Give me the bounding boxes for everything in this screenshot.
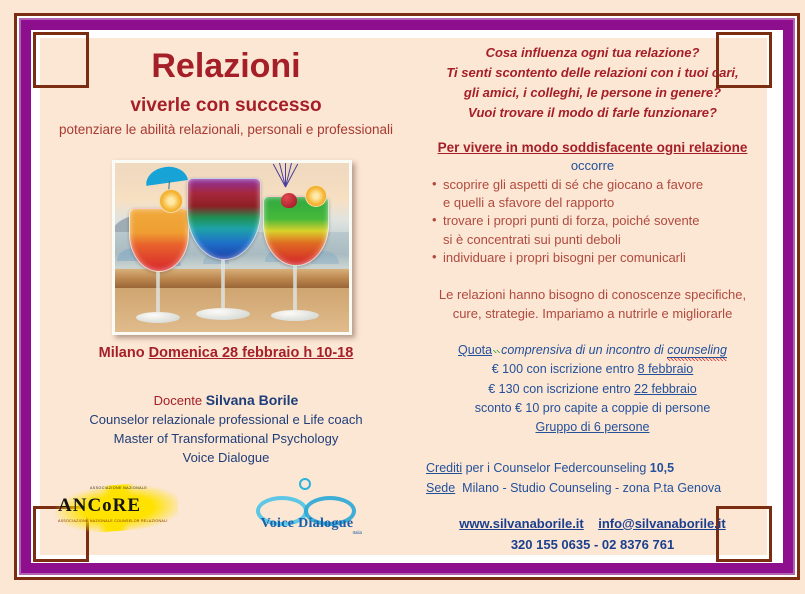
- credits-and-venue-block: Crediti per i Counselor Federcounseling …: [418, 458, 767, 498]
- list-item-line: si è concentrati sui punti deboli: [443, 232, 621, 247]
- poster-columns: Relazioni viverle con successo potenziar…: [40, 38, 767, 555]
- event-city: Milano: [99, 345, 145, 361]
- venue-text: Milano - Studio Counseling - zona P.ta G…: [462, 481, 721, 495]
- price-deadline: 8 febbraio: [638, 362, 694, 376]
- event-date-line: Milano Domenica 28 febbraio h 10-18: [40, 345, 412, 361]
- pricing-heading-rest: comprensiva di un incontro di: [501, 343, 664, 357]
- teacher-credential: Voice Dialogue: [40, 449, 412, 468]
- list-item: trovare i propri punti di forza, poiché …: [432, 212, 767, 249]
- subtitle: viverle con successo: [40, 95, 412, 117]
- teacher-name: Silvana Borile: [206, 392, 299, 408]
- price-line-1: € 100 con iscrizione entro 8 febbraio: [418, 360, 767, 379]
- left-column: Relazioni viverle con successo potenziar…: [40, 38, 412, 555]
- price-deadline: 22 febbraio: [634, 382, 697, 396]
- cocktail-foot: [196, 308, 250, 320]
- hook-questions: Cosa influenza ogni tua relazione? Ti se…: [418, 38, 767, 124]
- cocktail-bowl: [187, 178, 261, 260]
- group-line-text: Gruppo di 6 persone: [536, 420, 650, 434]
- logos-row: ASSOCIAZIONE NAZIONALE ANCoRE ASSOCIAZIO…: [40, 476, 412, 546]
- venue-line: Sede Milano - Studio Counseling - zona P…: [426, 478, 767, 498]
- pricing-heading: Quotacomprensiva di un incontro di couns…: [418, 341, 767, 360]
- list-item-line: e quelli a sfavore del rapporto: [443, 195, 614, 210]
- paragraph-line: cure, strategie. Impariamo a nutrirle e …: [418, 304, 767, 324]
- cocktails-photo-image: [115, 163, 349, 332]
- group-line: Gruppo di 6 persone: [418, 418, 767, 437]
- pricing-block: Quotacomprensiva di un incontro di couns…: [418, 341, 767, 438]
- ancore-logo-baseline: ASSOCIAZIONE NAZIONALE COUNSELOR RELAZIO…: [58, 519, 168, 523]
- price-text: € 130 con iscrizione entro: [488, 382, 634, 396]
- cocktail-glass-left: [129, 208, 187, 328]
- venue-label: Sede: [426, 481, 455, 495]
- cocktail-stem: [293, 266, 297, 310]
- cocktail-stem: [221, 260, 225, 308]
- contact-block: www.silvanaborile.it info@silvanaborile.…: [418, 514, 767, 556]
- tagline: potenziare le abilità relazionali, perso…: [40, 122, 412, 137]
- discount-line: sconto € 10 pro capite a coppie di perso…: [418, 399, 767, 418]
- pricing-label: Quota: [458, 343, 492, 357]
- paper-umbrella-garnish: [144, 164, 188, 186]
- credits-value: 10,5: [650, 461, 674, 475]
- email-link[interactable]: info@silvanaborile.it: [598, 516, 726, 531]
- paragraph-line: Le relazioni hanno bisogno di conoscenze…: [418, 285, 767, 305]
- teacher-block: Docente Silvana Borile Counselor relazio…: [40, 390, 412, 467]
- orange-slice-garnish: [159, 189, 183, 213]
- cocktail-foot: [136, 312, 180, 323]
- voice-dialogue-sub: Italia: [248, 530, 362, 535]
- orange-slice-garnish: [305, 185, 327, 207]
- credits-line: Crediti per i Counselor Federcounseling …: [426, 458, 767, 478]
- ancore-logo-wordmark: ANCoRE: [58, 495, 141, 517]
- price-text: € 100 con iscrizione entro: [492, 362, 638, 376]
- sparkler-garnish: [265, 163, 309, 195]
- occorre-label: occorre: [418, 158, 767, 173]
- cherry-garnish: [281, 193, 297, 208]
- list-item-line: scoprire gli aspetti di sé che giocano a…: [443, 177, 703, 192]
- cocktail-stem: [156, 272, 160, 312]
- poster-flyer: Relazioni viverle con successo potenziar…: [0, 0, 805, 594]
- list-item: individuare i propri bisogni per comunic…: [432, 249, 767, 267]
- list-item-line: trovare i propri punti di forza, poiché …: [443, 213, 700, 228]
- spellcheck-red-mark-word: counseling: [667, 343, 727, 358]
- section-heading-per-vivere: Per vivere in modo soddisfacente ogni re…: [418, 140, 767, 155]
- voice-dialogue-logo: Voice Dialogue Italia: [248, 476, 366, 540]
- ancore-logo: ASSOCIAZIONE NAZIONALE ANCoRE ASSOCIAZIO…: [50, 479, 180, 535]
- cocktail-glass-middle: [187, 178, 259, 328]
- requirements-list: scoprire gli aspetti di sé che giocano a…: [418, 176, 767, 268]
- phone-numbers: 320 155 0635 - 02 8376 761: [418, 535, 767, 556]
- cocktails-photo: [112, 160, 352, 335]
- description-paragraph: Le relazioni hanno bisogno di conoscenze…: [418, 285, 767, 324]
- website-link[interactable]: www.silvanaborile.it: [459, 516, 584, 531]
- teacher-credential: Master of Transformational Psychology: [40, 430, 412, 449]
- cocktail-glass-right: [263, 196, 327, 328]
- list-item: scoprire gli aspetti di sé che giocano a…: [432, 176, 767, 213]
- event-date: Domenica 28 febbraio h 10-18: [149, 345, 354, 361]
- price-line-2: € 130 con iscrizione entro 22 febbraio: [418, 380, 767, 399]
- hook-line: gli amici, i colleghi, le persone in gen…: [418, 83, 767, 103]
- teacher-role-label: Docente: [154, 393, 202, 408]
- credits-text: per i Counselor Federcounseling: [466, 461, 647, 475]
- credits-label: Crediti: [426, 461, 462, 475]
- cocktail-bowl: [129, 208, 189, 272]
- circle-icon: [299, 478, 311, 490]
- teacher-name-line: Docente Silvana Borile: [40, 390, 412, 411]
- contact-links-row: www.silvanaborile.it info@silvanaborile.…: [418, 514, 767, 535]
- hook-line: Vuoi trovare il modo di farle funzionare…: [418, 103, 767, 123]
- page-title: Relazioni: [40, 38, 412, 86]
- teacher-credential: Counselor relazionale professional e Lif…: [40, 411, 412, 430]
- cocktail-foot: [271, 310, 319, 321]
- ancore-logo-top-text: ASSOCIAZIONE NAZIONALE: [90, 486, 147, 490]
- right-column: Cosa influenza ogni tua relazione? Ti se…: [418, 38, 767, 555]
- hook-line: Cosa influenza ogni tua relazione?: [418, 43, 767, 63]
- hook-line: Ti senti scontento delle relazioni con i…: [418, 63, 767, 83]
- list-item-line: individuare i propri bisogni per comunic…: [443, 250, 686, 265]
